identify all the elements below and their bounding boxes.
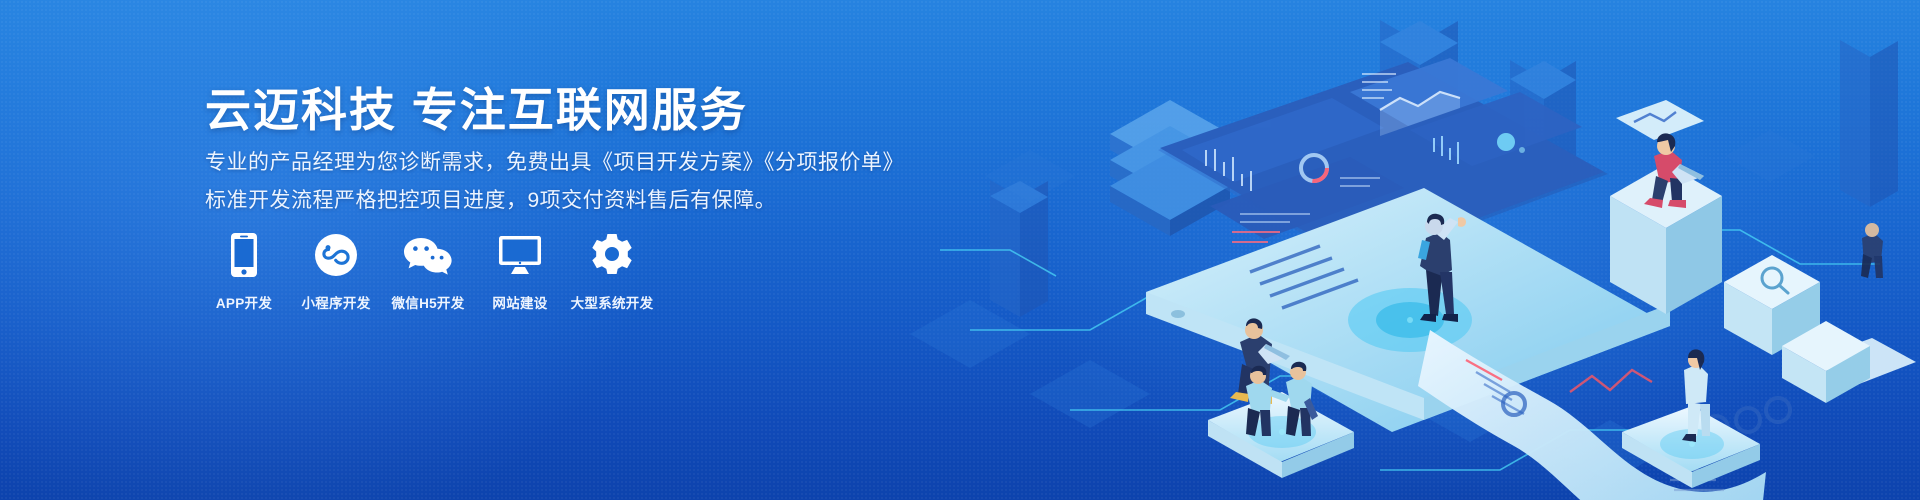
gear-icon [589,232,635,278]
banner-subtitle-line-1: 专业的产品经理为您诊断需求，免费出具《项目开发方案》《分项报价单》 [205,146,904,176]
wechat-bubbles-icon [402,232,454,278]
banner-copy: 云迈科技 专注互联网服务 专业的产品经理为您诊断需求，免费出具《项目开发方案》《… [205,0,925,500]
service-list: APP开发 小程序开发 [205,232,665,312]
monitor-icon [497,232,543,278]
service-item-app[interactable]: APP开发 [205,232,283,312]
service-label: 微信H5开发 [391,292,464,312]
isometric-illustration [910,0,1920,500]
large-tablet-platform [1146,188,1670,432]
service-item-wechat-h5[interactable]: 微信H5开发 [389,232,467,312]
service-label: APP开发 [216,292,272,312]
hero-banner: 云迈科技 专注互联网服务 专业的产品经理为您诊断需求，免费出具《项目开发方案》《… [0,0,1920,500]
banner-subtitle-line-2: 标准开发流程严格把控项目进度，9项交付资料售后有保障。 [205,184,776,214]
service-item-large-system[interactable]: 大型系统开发 [573,232,651,312]
small-figure-right [1861,223,1883,278]
floating-chat-card [1616,100,1704,140]
service-item-website[interactable]: 网站建设 [481,232,559,312]
mobile-phone-icon [229,232,259,278]
service-label: 小程序开发 [302,292,371,312]
service-label: 大型系统开发 [571,292,654,312]
banner-title: 云迈科技 专注互联网服务 [205,74,748,140]
service-label: 网站建设 [492,292,547,312]
service-item-mini-program[interactable]: 小程序开发 [297,232,375,312]
mini-program-icon [314,232,358,278]
